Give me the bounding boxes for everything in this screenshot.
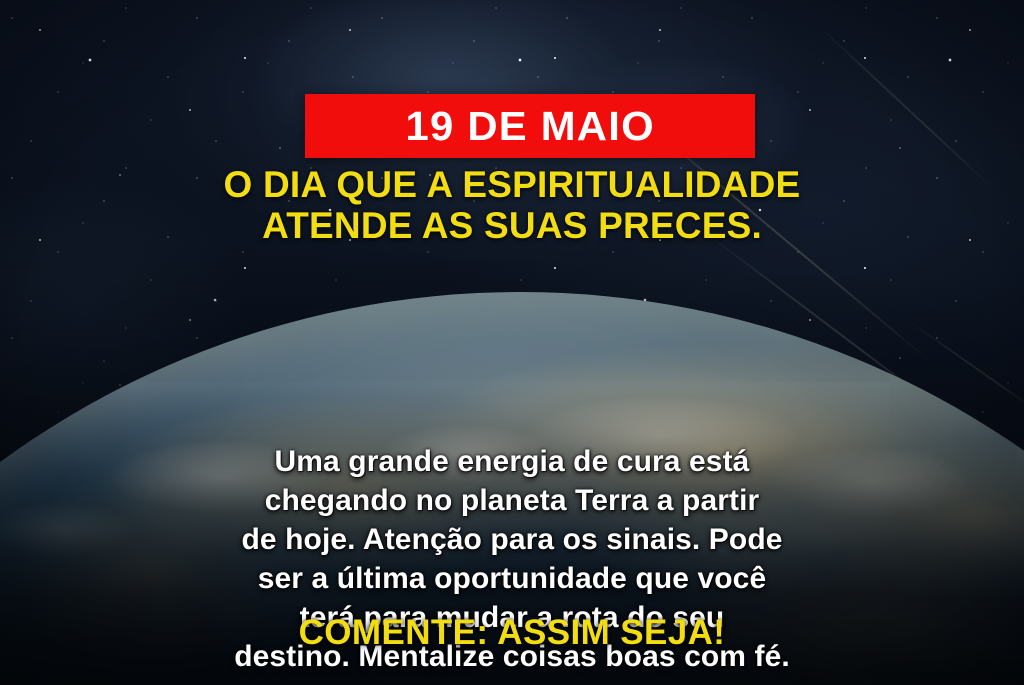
headline: O DIA QUE A ESPIRITUALIDADE ATENDE AS SU… <box>0 164 1024 247</box>
body-line-4: ser a última oportunidade que você <box>48 559 976 598</box>
body-line-2: chegando no planeta Terra a partir <box>48 481 976 520</box>
poster-canvas: 19 DE MAIO O DIA QUE A ESPIRITUALIDADE A… <box>0 0 1024 685</box>
headline-line-2: ATENDE AS SUAS PRECES. <box>64 205 960 246</box>
headline-line-1: O DIA QUE A ESPIRITUALIDADE <box>64 164 960 205</box>
text-content-layer: 19 DE MAIO O DIA QUE A ESPIRITUALIDADE A… <box>0 0 1024 685</box>
date-banner: 19 DE MAIO <box>305 94 755 158</box>
body-line-1: Uma grande energia de cura está <box>48 442 976 481</box>
body-line-3: de hoje. Atenção para os sinais. Pode <box>48 520 976 559</box>
call-to-action-text: COMENTE: ASSIM SEJA! <box>299 613 726 652</box>
call-to-action: COMENTE: ASSIM SEJA! <box>0 614 1024 653</box>
date-banner-text: 19 DE MAIO <box>405 106 654 147</box>
